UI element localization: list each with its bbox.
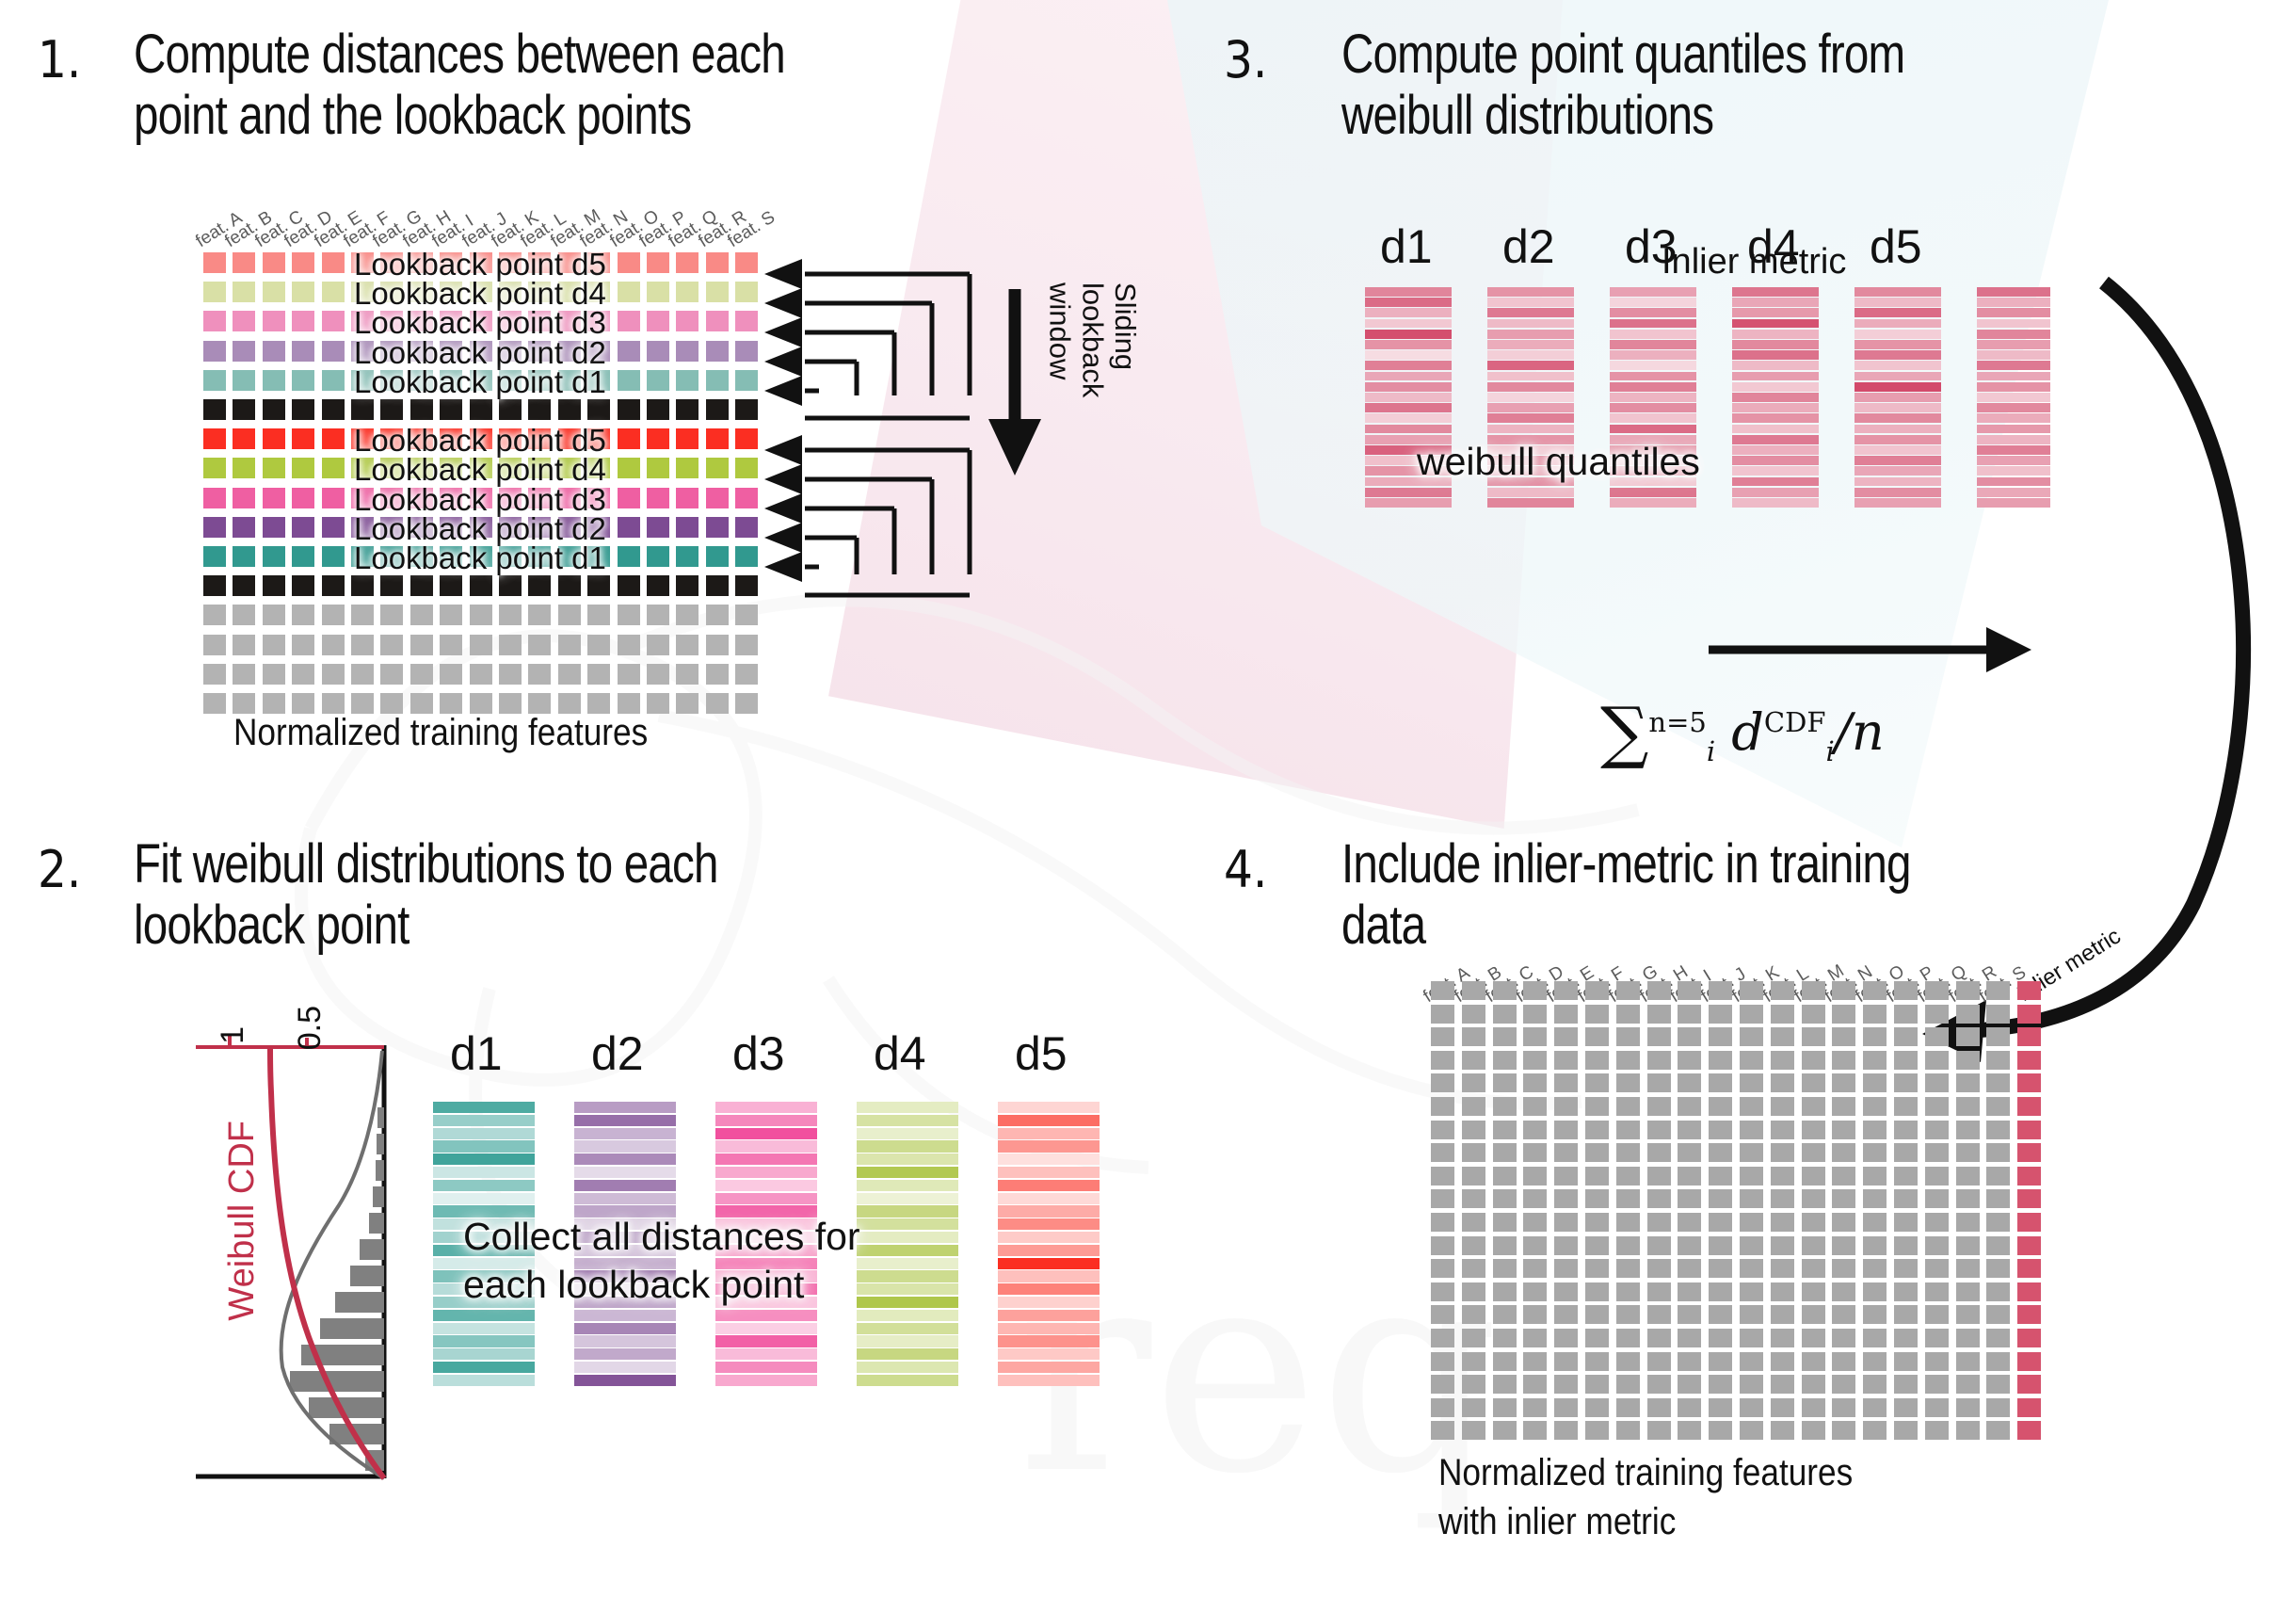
grid-cell (1616, 1398, 1640, 1417)
grid-cell (528, 575, 551, 596)
grid-cell (1802, 1282, 1825, 1301)
grid-cell (1956, 1073, 1980, 1092)
quantile-bar (1610, 287, 1696, 297)
quantile-bar (1365, 298, 1452, 307)
inlier-metric-cell (2017, 1282, 2041, 1301)
grid-cell (1863, 1097, 1887, 1116)
inlier-metric-bar (1977, 287, 2050, 297)
grid-cell (1493, 1398, 1517, 1417)
grid-cell (1709, 1121, 1732, 1139)
distance-bar (715, 1335, 817, 1347)
grid-cell (263, 311, 285, 331)
distance-bar (998, 1232, 1100, 1243)
grid-cell (1802, 1329, 1825, 1347)
grid-cell (1771, 1352, 1794, 1371)
grid-cell (1616, 1213, 1640, 1232)
grid-cell (1585, 1213, 1609, 1232)
grid-cell (1894, 1329, 1918, 1347)
grid-cell (470, 605, 492, 625)
grid-cell (1554, 1143, 1578, 1162)
grid-cell (618, 488, 640, 508)
quantile-bar (1365, 403, 1452, 412)
grid-cell (1925, 1189, 1949, 1208)
grid-cell (1863, 1189, 1887, 1208)
inlier-metric-bar (1977, 403, 2050, 412)
distance-bar (715, 1153, 817, 1165)
grid-cell (1678, 1005, 1701, 1024)
quantile-bar (1854, 425, 1941, 434)
grid-cell (1431, 1027, 1454, 1046)
grid-cell (558, 664, 581, 685)
distance-bar (857, 1335, 958, 1347)
distance-bar (574, 1193, 676, 1204)
grid-cell (1493, 1027, 1517, 1046)
grid-cell (1925, 1213, 1949, 1232)
sliding-window-label: Sliding lookback window (1043, 282, 1141, 397)
grid-cell (1709, 1143, 1732, 1162)
grid-cell (1678, 1097, 1701, 1116)
grid-cell (1462, 981, 1485, 1000)
quantile-bar (1732, 308, 1819, 317)
grid-cell (1678, 1282, 1701, 1301)
grid-cell (1832, 1143, 1855, 1162)
grid-cell (322, 575, 345, 596)
quantile-bar (1854, 350, 1941, 360)
grid-cell (676, 458, 698, 478)
grid-cell (1802, 1121, 1825, 1139)
grid-cell (499, 664, 522, 685)
grid-cell (263, 488, 285, 508)
grid-cell (647, 635, 669, 655)
distance-bar (433, 1362, 535, 1373)
grid-cell (618, 282, 640, 302)
grid-cell (1431, 1236, 1454, 1255)
grid-cell (1894, 981, 1918, 1000)
quantile-bar (1487, 340, 1574, 349)
grid-cell (351, 605, 374, 625)
grid-cell (1709, 1027, 1732, 1046)
grid-cell (470, 635, 492, 655)
grid-cell (203, 341, 226, 362)
distance-bar (857, 1362, 958, 1373)
inlier-metric-bar (1977, 372, 2050, 381)
grid-cell (233, 605, 255, 625)
grid-cell (1925, 1282, 1949, 1301)
grid-cell (1956, 1282, 1980, 1301)
grid-cell (203, 517, 226, 538)
grid-cell (647, 605, 669, 625)
grid-cell (1986, 1329, 2010, 1347)
grid-cell (499, 635, 522, 655)
grid-cell (1647, 981, 1671, 1000)
grid-cell (1462, 1027, 1485, 1046)
grid-cell (676, 664, 698, 685)
grid-cell (1863, 1005, 1887, 1024)
grid-cell (1986, 1213, 2010, 1232)
grid-cell (1709, 1213, 1732, 1232)
grid-cell (1523, 981, 1547, 1000)
quantile-bar (1854, 308, 1941, 317)
grid-cell (1585, 1073, 1609, 1092)
grid-cell (1462, 1097, 1485, 1116)
grid-cell (263, 341, 285, 362)
grid-cell (1740, 1375, 1763, 1394)
panel2-column-label-d2: d2 (591, 1026, 644, 1081)
grid-cell (1523, 1051, 1547, 1070)
panel2-column-label-d4: d4 (874, 1026, 926, 1081)
quantile-bar (1487, 372, 1574, 381)
distance-bar (715, 1180, 817, 1191)
grid-cell (706, 664, 729, 685)
inlier-metric-cell (2017, 1097, 2041, 1116)
grid-cell (1554, 1121, 1578, 1139)
grid-cell (1678, 1051, 1701, 1070)
quantile-bar (1365, 372, 1452, 381)
grid-cell (1832, 1097, 1855, 1116)
grid-cell (1647, 1143, 1671, 1162)
distance-bar (857, 1323, 958, 1334)
distance-bar (998, 1205, 1100, 1217)
grid-cell (735, 252, 758, 273)
quantile-bar (1732, 393, 1819, 402)
grid-cell (1554, 1329, 1578, 1347)
grid-cell (1986, 1143, 2010, 1162)
grid-cell (647, 517, 669, 538)
grid-cell (1771, 1213, 1794, 1232)
grid-cell (1678, 981, 1701, 1000)
grid-cell (1986, 1189, 2010, 1208)
step-1-title: Compute distances between each point and… (134, 24, 983, 147)
inlier-metric-bar (1977, 330, 2050, 339)
distance-bar (857, 1128, 958, 1139)
grid-cell (1554, 981, 1578, 1000)
quantile-bar (1610, 361, 1696, 370)
summation-symbol: ∑ (1600, 692, 1648, 771)
grid-cell (292, 488, 314, 508)
grid-cell (676, 605, 698, 625)
distance-bar (433, 1140, 535, 1152)
inlier-metric-bar (1977, 498, 2050, 508)
grid-cell (1956, 1189, 1980, 1208)
distance-bar (574, 1348, 676, 1360)
grid-cell (203, 546, 226, 567)
inlier-metric-formula: ∑n=5i dCDFi/n (1600, 692, 1885, 771)
grid-cell (1925, 1143, 1949, 1162)
grid-cell (1894, 1027, 1918, 1046)
grid-cell (1462, 1375, 1485, 1394)
grid-cell (1678, 1073, 1701, 1092)
grid-cell (1802, 1005, 1825, 1024)
quantile-bar (1854, 372, 1941, 381)
grid-cell (1616, 1121, 1640, 1139)
grid-cell (1925, 1121, 1949, 1139)
grid-cell (233, 458, 255, 478)
grid-cell (322, 488, 345, 508)
grid-cell (1431, 1213, 1454, 1232)
step-2-title: Fit weibull distributions to each lookba… (134, 834, 983, 957)
grid-cell (647, 546, 669, 567)
grid-cell (1802, 1259, 1825, 1278)
grid-cell (1616, 1189, 1640, 1208)
quantile-bar (1610, 330, 1696, 339)
grid-cell (263, 546, 285, 567)
grid-cell (263, 428, 285, 449)
grid-cell (1740, 1305, 1763, 1324)
distance-bar (715, 1375, 817, 1386)
distance-bar (998, 1153, 1100, 1165)
quantile-bar (1610, 382, 1696, 392)
grid-cell (735, 575, 758, 596)
grid-cell (1863, 1027, 1887, 1046)
grid-cell (706, 428, 729, 449)
grid-cell (1832, 1051, 1855, 1070)
grid-cell (1956, 1421, 1980, 1440)
grid-cell (1585, 1398, 1609, 1417)
grid-cell (1462, 1167, 1485, 1186)
diagram-canvas: req 1. Compute distances between each po… (0, 0, 2296, 1597)
grid-cell (1493, 1005, 1517, 1024)
inlier-metric-cell (2017, 1375, 2041, 1394)
inlier-metric-bar (1977, 319, 2050, 329)
grid-cell (1462, 1282, 1485, 1301)
grid-cell (647, 575, 669, 596)
grid-cell (1894, 1259, 1918, 1278)
grid-cell (351, 664, 374, 685)
grid-cell (1462, 1121, 1485, 1139)
grid-cell (676, 575, 698, 596)
inlier-metric-bar (1977, 361, 2050, 370)
grid-cell (1585, 1282, 1609, 1301)
grid-cell (647, 664, 669, 685)
grid-cell (1616, 1421, 1640, 1440)
grid-cell (203, 693, 226, 714)
grid-cell (1493, 1329, 1517, 1347)
grid-cell (1771, 1375, 1794, 1394)
distance-bar (998, 1270, 1100, 1282)
distance-bar (433, 1375, 535, 1386)
grid-cell (322, 517, 345, 538)
grid-cell (233, 399, 255, 420)
grid-cell (1678, 1305, 1701, 1324)
grid-cell (1493, 1305, 1517, 1324)
quantile-bar (1854, 330, 1941, 339)
inlier-metric-bar (1977, 298, 2050, 307)
grid-cell (1802, 1236, 1825, 1255)
grid-cell (1431, 1282, 1454, 1301)
panel1-feature-labels: feat. Afeat. Bfeat. Cfeat. Dfeat. Efeat.… (203, 186, 787, 252)
distance-bar (998, 1348, 1100, 1360)
quantile-bar (1487, 403, 1574, 412)
grid-cell (1616, 1375, 1640, 1394)
grid-cell (1986, 1005, 2010, 1024)
grid-cell (1431, 1421, 1454, 1440)
grid-cell (1740, 1189, 1763, 1208)
grid-cell (1616, 1259, 1640, 1278)
distance-bar (574, 1128, 676, 1139)
quantile-bar (1365, 425, 1452, 434)
grid-cell (263, 635, 285, 655)
inlier-metric-bar (1977, 340, 2050, 349)
grid-cell (1832, 1189, 1855, 1208)
quantile-bar (1365, 413, 1452, 423)
quantile-bar (1732, 372, 1819, 381)
grid-cell (1832, 1005, 1855, 1024)
grid-cell (1771, 1051, 1794, 1070)
grid-cell (292, 282, 314, 302)
grid-cell (1956, 1167, 1980, 1186)
grid-cell (1863, 1073, 1887, 1092)
panel3-column-label-d2: d2 (1502, 219, 1555, 274)
grid-cell (1802, 1073, 1825, 1092)
grid-cell (1894, 1398, 1918, 1417)
distance-bar (998, 1297, 1100, 1308)
grid-cell (1585, 1352, 1609, 1371)
grid-cell (1709, 981, 1732, 1000)
grid-cell (1802, 1027, 1825, 1046)
grid-cell (1554, 1005, 1578, 1024)
panel3-column-label-d1: d1 (1380, 219, 1433, 274)
grid-cell (1523, 1073, 1547, 1092)
grid-cell (1462, 1236, 1485, 1255)
grid-cell (322, 605, 345, 625)
grid-cell (1863, 1121, 1887, 1139)
distance-bar (715, 1102, 817, 1113)
grid-cell (233, 282, 255, 302)
grid-cell (706, 517, 729, 538)
inlier-metric-bar (1977, 456, 2050, 465)
grid-cell (1709, 1073, 1732, 1092)
grid-cell (1832, 1236, 1855, 1255)
distance-bar (998, 1283, 1100, 1295)
grid-cell (1431, 1121, 1454, 1139)
grid-cell (1894, 1352, 1918, 1371)
distance-bar (433, 1153, 535, 1165)
grid-cell (647, 428, 669, 449)
quantile-bar (1365, 308, 1452, 317)
grid-cell (1431, 1005, 1454, 1024)
grid-cell (1986, 1398, 2010, 1417)
grid-cell (1771, 1421, 1794, 1440)
grid-cell (1863, 1236, 1887, 1255)
grid-cell (1740, 1143, 1763, 1162)
grid-cell (1678, 1329, 1701, 1347)
quantile-bar (1732, 488, 1819, 497)
distance-bar (998, 1128, 1100, 1139)
inlier-metric-cell (2017, 1398, 2041, 1417)
grid-cell (528, 605, 551, 625)
grid-cell (647, 370, 669, 391)
grid-cell (1894, 1236, 1918, 1255)
grid-cell (203, 664, 226, 685)
distance-bar (433, 1335, 535, 1347)
grid-cell (1802, 1305, 1825, 1324)
distance-bar (574, 1323, 676, 1334)
grid-cell (1493, 1167, 1517, 1186)
grid-cell (1863, 1398, 1887, 1417)
grid-cell (1647, 1375, 1671, 1394)
distance-bar (715, 1115, 817, 1126)
grid-cell (1493, 1097, 1517, 1116)
grid-cell (676, 370, 698, 391)
grid-cell (1647, 1051, 1671, 1070)
inlier-metric-bar (1977, 393, 2050, 402)
grid-cell (410, 605, 433, 625)
grid-cell (1894, 1143, 1918, 1162)
grid-cell (1554, 1305, 1578, 1324)
weibull-cdf-plot (188, 1036, 405, 1488)
distance-bar (857, 1180, 958, 1191)
grid-cell (1740, 1329, 1763, 1347)
panel3-inlier-metric-strip (1977, 287, 2050, 508)
grid-cell (1894, 1189, 1918, 1208)
distance-bar (715, 1167, 817, 1178)
grid-cell (1431, 1073, 1454, 1092)
grid-cell (470, 575, 492, 596)
grid-cell (1956, 1352, 1980, 1371)
grid-cell (1863, 1213, 1887, 1232)
grid-cell (1956, 1329, 1980, 1347)
distance-bar (433, 1128, 535, 1139)
distance-bar (433, 1348, 535, 1360)
distance-bar (998, 1335, 1100, 1347)
grid-cell (1925, 1073, 1949, 1092)
quantile-bar (1854, 413, 1941, 423)
distance-bar (574, 1140, 676, 1152)
grid-cell (618, 575, 640, 596)
inlier-metric-bar (1977, 488, 2050, 497)
grid-cell (1894, 1213, 1918, 1232)
quantile-bar (1610, 298, 1696, 307)
inlier-metric-cell (2017, 981, 2041, 1000)
grid-cell (233, 428, 255, 449)
grid-cell (1986, 1051, 2010, 1070)
quantile-bar (1610, 488, 1696, 497)
grid-cell (292, 664, 314, 685)
grid-cell (233, 546, 255, 567)
quantile-bar (1732, 319, 1819, 329)
grid-cell (735, 282, 758, 302)
grid-cell (1616, 981, 1640, 1000)
quantile-bar (1487, 393, 1574, 402)
grid-cell (1493, 1051, 1517, 1070)
grid-cell (1709, 1259, 1732, 1278)
grid-cell (618, 370, 640, 391)
grid-cell (1554, 1213, 1578, 1232)
grid-cell (1894, 1005, 1918, 1024)
grid-cell (1554, 1073, 1578, 1092)
grid-cell (1863, 1421, 1887, 1440)
grid-cell (1493, 1213, 1517, 1232)
grid-cell (1925, 1305, 1949, 1324)
grid-cell (470, 399, 492, 420)
quantile-bar (1487, 298, 1574, 307)
grid-cell (1647, 1167, 1671, 1186)
grid-cell (1956, 1005, 1980, 1024)
grid-cell (1771, 1121, 1794, 1139)
formula-term: d (1731, 702, 1764, 762)
grid-cell (1678, 1121, 1701, 1139)
grid-cell (1956, 1051, 1980, 1070)
inlier-metric-cell (2017, 1027, 2041, 1046)
grid-cell (1431, 1051, 1454, 1070)
grid-cell (1678, 1027, 1701, 1046)
grid-cell (1771, 1073, 1794, 1092)
grid-cell (618, 546, 640, 567)
grid-cell (1740, 1167, 1763, 1186)
grid-cell (1616, 1143, 1640, 1162)
grid-cell (1616, 1073, 1640, 1092)
step-1-number: 1. (38, 30, 81, 89)
